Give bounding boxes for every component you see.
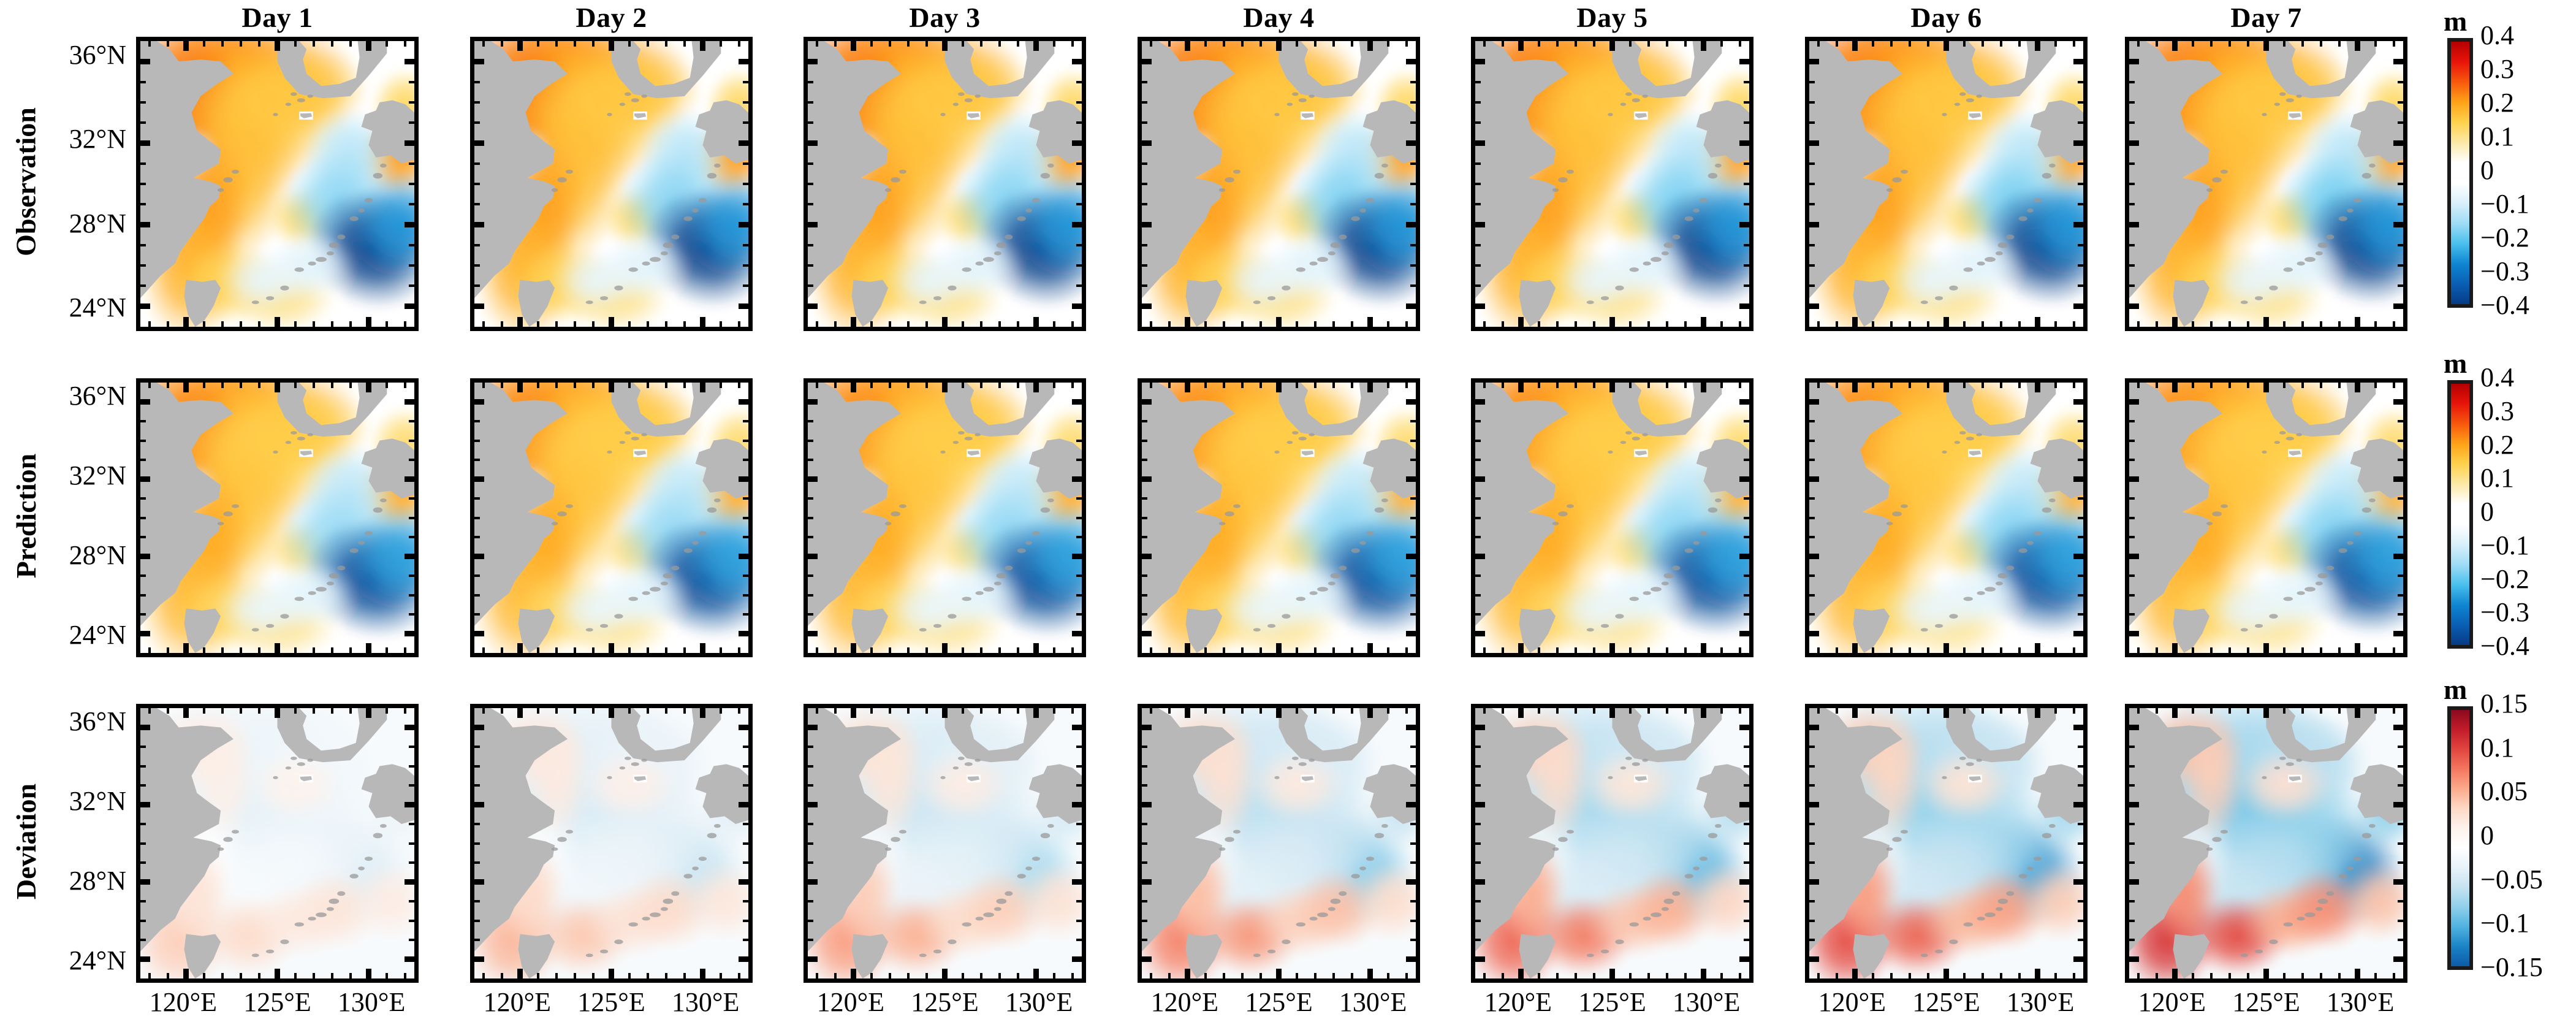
colorbar-tick-label: 0.1 xyxy=(2480,732,2514,763)
axis-tick-lat xyxy=(2398,203,2403,205)
axis-tick-lon xyxy=(2355,383,2360,392)
axis-tick-lon xyxy=(1963,383,1966,388)
axis-tick-lat xyxy=(474,900,480,902)
axis-tick-lon xyxy=(1817,647,1820,653)
axis-tick-lon xyxy=(1241,647,1244,653)
axis-tick-lon xyxy=(386,383,388,388)
axis-tick-lat xyxy=(2129,594,2135,597)
map-panel-observation-day-3[interactable] xyxy=(804,37,1086,331)
axis-tick-lon xyxy=(1332,647,1335,653)
map-panel-observation-day-4[interactable] xyxy=(1138,37,1420,331)
axis-tick-lat xyxy=(405,222,414,227)
axis-tick-lat xyxy=(739,879,748,885)
axis-tick-lat xyxy=(808,420,813,422)
axis-tick-lat xyxy=(739,59,748,64)
axis-tick-lon xyxy=(2192,973,2194,979)
axis-tick-lon xyxy=(1739,647,1741,653)
axis-tick-lat xyxy=(1142,765,1147,768)
axis-tick-lat xyxy=(808,861,813,864)
axis-tick-lat xyxy=(1809,725,1819,730)
axis-tick-lon xyxy=(2000,708,2002,714)
axis-tick-lat xyxy=(474,399,484,405)
axis-tick-lon xyxy=(851,41,856,51)
map-panel-prediction-day-2[interactable] xyxy=(470,378,753,657)
axis-tick-lat xyxy=(1410,765,1416,768)
axis-tick-lon xyxy=(720,41,722,47)
map-panel-deviation-day-3[interactable] xyxy=(804,704,1086,983)
axis-tick-lon xyxy=(2374,321,2377,327)
colorbar-tick-label: −0.3 xyxy=(2480,597,2529,628)
axis-tick-lon xyxy=(2393,708,2395,714)
axis-tick-lat xyxy=(409,121,414,124)
axis-tick-lat xyxy=(140,784,146,787)
axis-tick-lat xyxy=(1744,440,1749,442)
axis-tick-lat xyxy=(1809,631,1819,636)
axis-tick-lon xyxy=(1909,708,1911,714)
axis-tick-lat xyxy=(2078,81,2083,83)
axis-tick-lon xyxy=(2073,383,2075,388)
axis-tick-lat xyxy=(1739,956,1749,962)
y-axis-tick-label: 24°N xyxy=(0,292,126,323)
axis-tick-lon xyxy=(1538,973,1540,979)
axis-tick-lon xyxy=(2228,41,2231,47)
axis-tick-lon xyxy=(1168,41,1171,47)
axis-tick-lat xyxy=(743,900,748,902)
axis-tick-lat xyxy=(1744,497,1749,500)
map-panel-deviation-day-1[interactable] xyxy=(136,704,419,983)
axis-tick-lon xyxy=(2283,383,2285,388)
axis-tick-lon xyxy=(851,383,856,392)
axis-tick-lat xyxy=(2078,203,2083,205)
axis-tick-lat xyxy=(808,920,813,922)
axis-tick-lat xyxy=(2129,956,2139,962)
axis-tick-lon xyxy=(2073,321,2075,327)
axis-tick-lon xyxy=(609,643,614,653)
axis-tick-lon xyxy=(700,317,705,327)
axis-tick-lat xyxy=(1809,497,1815,500)
axis-tick-lat xyxy=(1410,162,1416,165)
axis-tick-lon xyxy=(2156,708,2158,714)
axis-tick-lat xyxy=(409,536,414,538)
axis-tick-lon xyxy=(942,969,948,979)
axis-tick-lat xyxy=(1142,631,1152,636)
axis-tick-lon xyxy=(1314,973,1316,979)
axis-tick-lat xyxy=(743,203,748,205)
anomaly-map xyxy=(1809,41,2083,327)
axis-tick-lon xyxy=(1204,383,1207,388)
axis-tick-lat xyxy=(1142,879,1152,885)
axis-tick-lat xyxy=(405,59,414,64)
axis-tick-lon xyxy=(1185,41,1190,51)
axis-tick-lon xyxy=(240,383,242,388)
axis-tick-lon xyxy=(592,383,595,388)
axis-tick-lon xyxy=(183,969,189,979)
axis-tick-lat xyxy=(1809,399,1819,405)
axis-tick-lat xyxy=(1406,554,1416,559)
colorbar-observation[interactable] xyxy=(2447,38,2473,308)
map-panel-deviation-day-5[interactable] xyxy=(1471,704,1753,983)
axis-tick-lat xyxy=(743,121,748,124)
axis-tick-lon xyxy=(1241,321,1244,327)
axis-tick-lon xyxy=(1852,41,1858,51)
map-panel-prediction-day-3[interactable] xyxy=(804,378,1086,657)
axis-tick-lat xyxy=(2129,244,2135,246)
axis-tick-lon xyxy=(1150,41,1152,47)
axis-tick-lon xyxy=(1927,647,1929,653)
axis-tick-lat xyxy=(1072,802,1082,807)
axis-tick-lon xyxy=(1150,708,1152,714)
axis-tick-lat xyxy=(743,939,748,941)
map-panel-prediction-day-4[interactable] xyxy=(1138,378,1420,657)
axis-tick-lon xyxy=(2018,973,2021,979)
axis-tick-lat xyxy=(1076,517,1082,519)
axis-tick-lat xyxy=(808,121,813,124)
axis-tick-lon xyxy=(1943,41,1949,51)
axis-tick-lon xyxy=(1033,383,1039,392)
axis-tick-lat xyxy=(2398,497,2403,500)
axis-tick-lon xyxy=(1387,973,1389,979)
axis-tick-lon xyxy=(2247,383,2249,388)
anomaly-map xyxy=(1475,708,1749,979)
axis-tick-lat xyxy=(1809,183,1815,185)
axis-tick-lon xyxy=(1701,383,1706,392)
axis-tick-lat xyxy=(1744,920,1749,922)
axis-tick-lon xyxy=(720,321,722,327)
axis-tick-lon xyxy=(1241,41,1244,47)
axis-tick-lon xyxy=(1666,708,1668,714)
axis-tick-lon xyxy=(240,973,242,979)
map-panel-deviation-day-7[interactable] xyxy=(2125,704,2407,983)
axis-tick-lon xyxy=(2210,383,2213,388)
axis-tick-lat xyxy=(140,162,146,165)
axis-tick-lat xyxy=(1076,81,1082,83)
axis-tick-lat xyxy=(474,459,480,461)
axis-tick-lat xyxy=(1809,162,1815,165)
axis-tick-lon xyxy=(517,317,523,327)
axis-tick-lon xyxy=(2283,41,2285,47)
map-panel-observation-day-7[interactable] xyxy=(2125,37,2407,331)
map-panel-deviation-day-2[interactable] xyxy=(470,704,753,983)
axis-tick-lon xyxy=(2283,973,2285,979)
axis-tick-lat xyxy=(743,746,748,748)
axis-tick-lat xyxy=(2129,879,2139,885)
axis-tick-lat xyxy=(1475,956,1485,962)
y-axis-tick-label: 32°N xyxy=(0,123,126,154)
axis-tick-lon xyxy=(1483,321,1486,327)
axis-tick-lat xyxy=(2078,613,2083,616)
axis-tick-lon xyxy=(816,383,818,388)
colorbar-tick-label: 0.2 xyxy=(2480,429,2514,460)
axis-tick-lat xyxy=(1744,746,1749,748)
axis-tick-lon xyxy=(816,973,818,979)
axis-tick-lat xyxy=(2078,121,2083,124)
axis-tick-lat xyxy=(1072,222,1082,227)
axis-tick-lat xyxy=(140,613,146,616)
axis-tick-lon xyxy=(1593,973,1595,979)
axis-tick-lon xyxy=(1502,321,1504,327)
axis-tick-lon xyxy=(2018,647,2021,653)
axis-tick-lon xyxy=(720,708,722,714)
axis-tick-lat xyxy=(140,59,150,64)
axis-tick-lon xyxy=(1387,383,1389,388)
axis-tick-lon xyxy=(2172,317,2178,327)
axis-tick-lon xyxy=(313,708,315,714)
axis-tick-lat xyxy=(140,842,146,845)
axis-tick-lat xyxy=(474,264,480,267)
axis-tick-lat xyxy=(2398,459,2403,461)
axis-tick-lon xyxy=(1593,41,1595,47)
axis-tick-lat xyxy=(743,823,748,825)
map-canvas xyxy=(1809,708,2083,979)
axis-tick-lat xyxy=(2078,459,2083,461)
axis-tick-lon xyxy=(2393,41,2395,47)
axis-tick-lat xyxy=(1406,399,1416,405)
axis-tick-lat xyxy=(1142,440,1147,442)
axis-tick-lon xyxy=(313,383,315,388)
axis-tick-lat xyxy=(1142,203,1147,205)
axis-tick-lon xyxy=(1387,321,1389,327)
anomaly-map xyxy=(2129,41,2403,327)
axis-tick-lon xyxy=(2338,383,2341,388)
axis-tick-lon xyxy=(555,708,558,714)
axis-tick-lon xyxy=(203,973,205,979)
axis-tick-lon xyxy=(183,643,189,653)
axis-tick-lon xyxy=(1017,708,1019,714)
axis-tick-lon xyxy=(889,647,891,653)
axis-tick-lon xyxy=(2073,647,2075,653)
axis-tick-lat xyxy=(2129,861,2135,864)
axis-tick-lon xyxy=(738,973,740,979)
axis-tick-lon xyxy=(1168,321,1171,327)
axis-tick-lat xyxy=(1809,517,1815,519)
map-panel-observation-day-6[interactable] xyxy=(1805,37,2088,331)
axis-tick-lat xyxy=(739,631,748,636)
axis-tick-lon xyxy=(167,321,169,327)
axis-tick-lon xyxy=(998,708,1001,714)
map-canvas xyxy=(1475,708,1749,979)
axis-tick-lon xyxy=(1701,708,1706,718)
axis-tick-lat xyxy=(1739,879,1749,885)
axis-tick-lon xyxy=(555,41,558,47)
axis-tick-lon xyxy=(1071,41,1074,47)
map-panel-deviation-day-4[interactable] xyxy=(1138,704,1420,983)
axis-tick-lat xyxy=(1142,399,1152,405)
axis-tick-lon xyxy=(501,41,503,47)
axis-tick-lon xyxy=(2054,321,2057,327)
axis-tick-lon xyxy=(870,973,873,979)
axis-tick-lon xyxy=(1260,973,1262,979)
axis-tick-lon xyxy=(1909,321,1911,327)
axis-tick-lon xyxy=(592,647,595,653)
axis-tick-lon xyxy=(1071,647,1074,653)
axis-tick-lat xyxy=(140,517,146,519)
axis-tick-lat xyxy=(739,725,748,730)
axis-tick-lon xyxy=(275,969,280,979)
axis-tick-lat xyxy=(474,746,480,748)
axis-tick-lat xyxy=(808,162,813,165)
axis-tick-lat xyxy=(1744,823,1749,825)
axis-tick-lon xyxy=(482,321,485,327)
axis-tick-lon xyxy=(2000,383,2002,388)
anomaly-map xyxy=(1475,383,1749,653)
axis-tick-lon xyxy=(870,41,873,47)
axis-tick-lat xyxy=(808,59,818,64)
axis-tick-lon xyxy=(1836,321,1838,327)
map-panel-prediction-day-7[interactable] xyxy=(2125,378,2407,657)
axis-tick-lon xyxy=(1204,973,1207,979)
map-panel-prediction-day-1[interactable] xyxy=(136,378,419,657)
axis-tick-lat xyxy=(1809,264,1815,267)
axis-tick-lat xyxy=(1809,284,1815,287)
colorbar-prediction[interactable] xyxy=(2447,380,2473,649)
axis-tick-lat xyxy=(2073,956,2083,962)
map-canvas xyxy=(2129,383,2403,653)
axis-tick-lat xyxy=(2398,420,2403,422)
axis-tick-lon xyxy=(366,969,371,979)
axis-tick-lon xyxy=(1276,383,1282,392)
map-panel-observation-day-5[interactable] xyxy=(1471,37,1753,331)
axis-tick-lon xyxy=(1963,647,1966,653)
axis-tick-lat xyxy=(1475,140,1485,146)
map-panel-prediction-day-5[interactable] xyxy=(1471,378,1753,657)
axis-tick-lon xyxy=(501,973,503,979)
axis-tick-lat xyxy=(1809,459,1815,461)
axis-tick-lat xyxy=(1142,784,1147,787)
axis-tick-lat xyxy=(1475,59,1485,64)
axis-tick-lon xyxy=(851,317,856,327)
axis-tick-lon xyxy=(647,647,649,653)
axis-tick-lat xyxy=(2129,536,2135,538)
axis-tick-lat xyxy=(140,765,146,768)
axis-tick-lon xyxy=(1666,321,1668,327)
axis-tick-lat xyxy=(2073,140,2083,146)
axis-tick-lat xyxy=(739,399,748,405)
axis-tick-lat xyxy=(1410,203,1416,205)
axis-tick-lon xyxy=(275,383,280,392)
axis-tick-lon xyxy=(2192,383,2194,388)
axis-tick-lat xyxy=(1076,784,1082,787)
axis-tick-lon xyxy=(834,973,837,979)
axis-tick-lon xyxy=(2320,321,2322,327)
axis-tick-lat xyxy=(808,459,813,461)
axis-tick-lon xyxy=(366,643,371,653)
axis-tick-lat xyxy=(1744,162,1749,165)
axis-tick-lon xyxy=(2263,969,2269,979)
axis-tick-lat xyxy=(1406,956,1416,962)
axis-tick-lon xyxy=(907,321,910,327)
axis-tick-lat xyxy=(743,613,748,616)
axis-tick-lat xyxy=(1142,121,1147,124)
map-panel-prediction-day-6[interactable] xyxy=(1805,378,2088,657)
axis-tick-lat xyxy=(1809,746,1815,748)
axis-tick-lon xyxy=(2054,647,2057,653)
axis-tick-lon xyxy=(2210,647,2213,653)
axis-tick-lon xyxy=(1518,317,1524,327)
axis-tick-lat xyxy=(409,440,414,442)
axis-tick-lon xyxy=(366,708,371,718)
axis-tick-lon xyxy=(1332,708,1335,714)
axis-tick-lon xyxy=(1241,383,1244,388)
axis-tick-lat xyxy=(1744,861,1749,864)
axis-tick-lat xyxy=(2078,244,2083,246)
colorbar-tick-label: 0.1 xyxy=(2480,121,2514,152)
axis-tick-lon xyxy=(2301,321,2304,327)
axis-tick-lon xyxy=(1909,41,1911,47)
map-panel-deviation-day-6[interactable] xyxy=(1805,704,2088,983)
axis-tick-lon xyxy=(609,317,614,327)
axis-tick-lon xyxy=(404,973,406,979)
axis-tick-lon xyxy=(294,708,297,714)
axis-tick-lon xyxy=(683,647,686,653)
axis-tick-lat xyxy=(1744,81,1749,83)
colorbar-deviation[interactable] xyxy=(2447,706,2473,970)
axis-tick-lat xyxy=(1744,900,1749,902)
axis-tick-lat xyxy=(808,956,818,962)
axis-tick-lat xyxy=(474,284,480,287)
axis-tick-lon xyxy=(1684,708,1687,714)
map-panel-observation-day-1[interactable] xyxy=(136,37,419,331)
axis-tick-lon xyxy=(404,383,406,388)
axis-tick-lon xyxy=(816,708,818,714)
axis-tick-lon xyxy=(2137,708,2140,714)
axis-tick-lon xyxy=(167,647,169,653)
axis-tick-lat xyxy=(808,746,813,748)
map-panel-observation-day-2[interactable] xyxy=(470,37,753,331)
axis-tick-lon xyxy=(2283,321,2285,327)
axis-tick-lat xyxy=(140,264,146,267)
axis-tick-lon xyxy=(517,969,523,979)
axis-tick-lon xyxy=(2374,41,2377,47)
axis-tick-lon xyxy=(720,383,722,388)
axis-tick-lat xyxy=(405,554,414,559)
axis-tick-lon xyxy=(2228,321,2231,327)
axis-tick-lat xyxy=(2073,476,2083,482)
axis-tick-lon xyxy=(2263,383,2269,392)
axis-tick-lat xyxy=(1809,594,1815,597)
axis-tick-lat xyxy=(1809,420,1815,422)
axis-tick-lon xyxy=(738,321,740,327)
axis-tick-lon xyxy=(1405,321,1408,327)
axis-tick-lon xyxy=(148,708,151,714)
axis-tick-lon xyxy=(683,41,686,47)
axis-tick-lon xyxy=(1927,321,1929,327)
axis-tick-lon xyxy=(592,973,595,979)
axis-tick-lat xyxy=(1475,162,1481,165)
axis-tick-lon xyxy=(1872,973,1874,979)
axis-tick-lat xyxy=(743,101,748,104)
axis-tick-lon xyxy=(907,973,910,979)
axis-tick-lon xyxy=(1033,317,1039,327)
axis-tick-lat xyxy=(140,725,150,730)
axis-tick-lat xyxy=(2393,140,2403,146)
map-canvas xyxy=(140,41,414,327)
column-title-day-5: Day 5 xyxy=(1471,1,1753,34)
column-title-day-6: Day 6 xyxy=(1805,1,2088,34)
axis-tick-lat xyxy=(474,121,480,124)
axis-tick-lat xyxy=(1142,101,1147,104)
axis-tick-lon xyxy=(1168,647,1171,653)
axis-tick-lon xyxy=(700,383,705,392)
axis-tick-lat xyxy=(1076,574,1082,577)
axis-tick-lat xyxy=(409,459,414,461)
axis-tick-lat xyxy=(474,956,484,962)
axis-tick-lon xyxy=(275,708,280,718)
axis-tick-lon xyxy=(1629,41,1632,47)
axis-tick-lat xyxy=(2129,81,2135,83)
axis-tick-lon xyxy=(2301,41,2304,47)
axis-tick-lat xyxy=(2398,284,2403,287)
axis-tick-lon xyxy=(1367,643,1373,653)
